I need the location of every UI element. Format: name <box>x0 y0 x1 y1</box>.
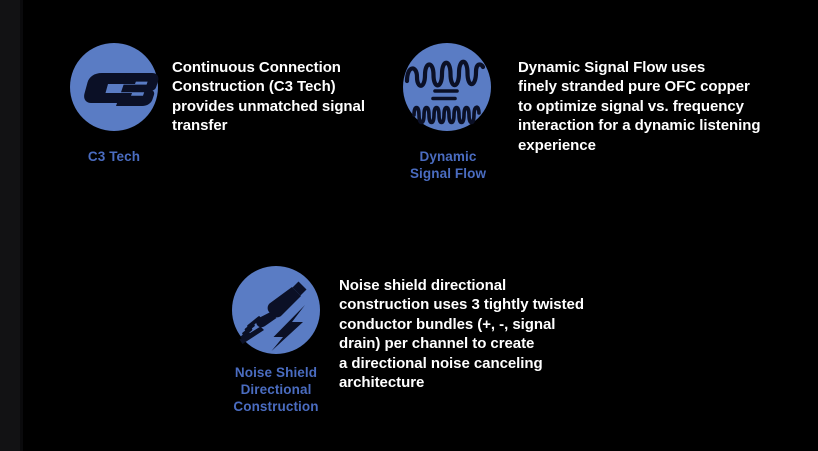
signal-wave-icon <box>403 43 491 131</box>
cable-plug-icon <box>232 266 320 354</box>
icon-label-dynamic-signal-flow: Dynamic Signal Flow <box>392 148 504 182</box>
icon-label-c3-tech: C3 Tech <box>58 148 170 165</box>
feature-description-c3-tech: Continuous Connection Construction (C3 T… <box>172 58 397 136</box>
left-edge-divider <box>20 0 23 451</box>
feature-description-dynamic-signal-flow: Dynamic Signal Flow uses finely stranded… <box>518 58 808 155</box>
icon-label-noise-shield: Noise Shield Directional Construction <box>218 364 334 415</box>
feature-description-noise-shield: Noise shield directional construction us… <box>339 276 609 392</box>
c3-logo-icon <box>70 43 158 131</box>
left-edge-band <box>0 0 20 451</box>
infographic-canvas: C3 Tech Continuous Connection Constructi… <box>0 0 818 451</box>
